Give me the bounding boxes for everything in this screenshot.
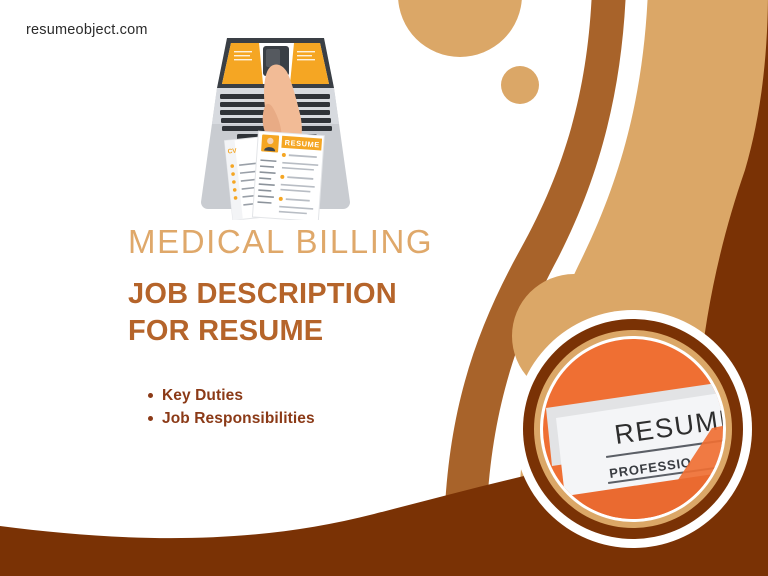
page-title: JOB DESCRIPTION FOR RESUME bbox=[128, 276, 528, 350]
page-kicker: MEDICAL BILLING bbox=[128, 222, 528, 262]
headline-block: MEDICAL BILLING JOB DESCRIPTION FOR RESU… bbox=[128, 222, 528, 350]
bullet-list: Key Duties Job Responsibilities bbox=[140, 384, 315, 430]
page-title-line1: JOB DESCRIPTION bbox=[128, 278, 397, 310]
screen-center-glass bbox=[266, 49, 280, 67]
site-logo[interactable]: resumeobject.com bbox=[26, 22, 148, 38]
poster-canvas: resumeobject.com bbox=[0, 0, 768, 576]
resume-sheet: RESUME bbox=[252, 131, 324, 220]
hero-illustration: CV RESUME bbox=[193, 32, 358, 220]
resume-photo-circle: RESUME PROFESSIO bbox=[512, 308, 754, 550]
list-item: Key Duties bbox=[162, 384, 315, 407]
page-title-line2: FOR RESUME bbox=[128, 313, 528, 350]
list-item: Job Responsibilities bbox=[162, 407, 315, 430]
photo-content: RESUME PROFESSIO bbox=[512, 308, 754, 550]
top-right-circle-small-tan bbox=[501, 66, 539, 104]
svg-text:CV: CV bbox=[227, 147, 237, 155]
